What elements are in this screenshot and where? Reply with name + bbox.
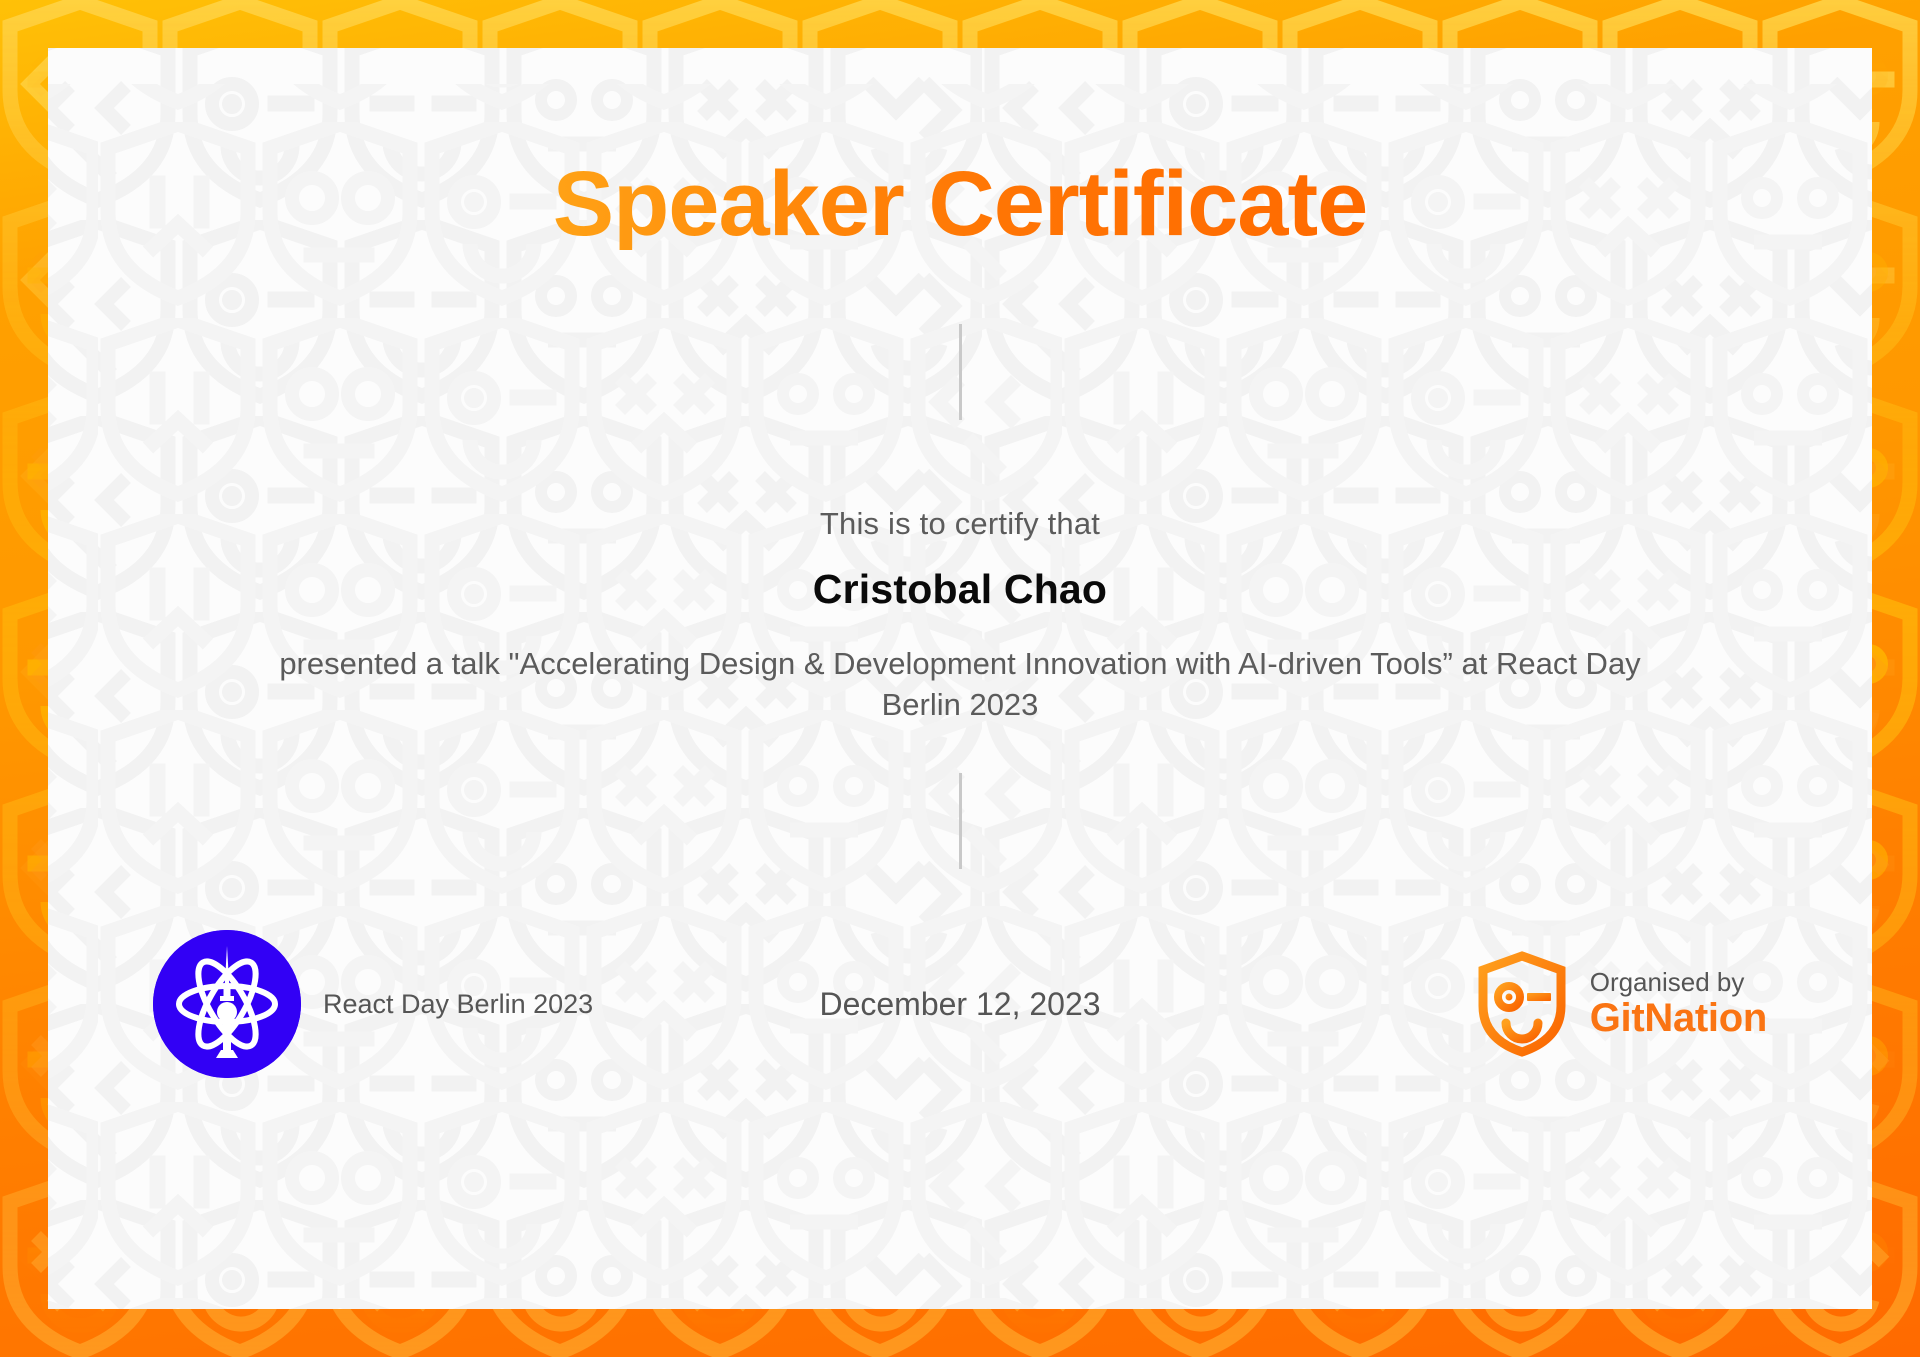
recipient-name: Cristobal Chao <box>813 566 1107 613</box>
divider-bottom <box>959 773 962 869</box>
certificate-card: Speaker Certificate This is to certify t… <box>48 48 1872 1309</box>
organiser-prefix: Organised by <box>1590 969 1767 996</box>
certificate: Speaker Certificate This is to certify t… <box>0 0 1920 1357</box>
certificate-footer: React Day Berlin 2023 December 12, 2023 <box>48 929 1872 1079</box>
talk-statement: presented a talk "Accelerating Design & … <box>245 643 1675 725</box>
gitnation-shield-icon <box>1476 951 1568 1057</box>
organiser-text: Organised by GitNation <box>1590 969 1767 1038</box>
organiser-name: GitNation <box>1590 997 1767 1039</box>
divider-top <box>959 324 962 420</box>
organiser-block: Organised by GitNation <box>1476 951 1767 1057</box>
certify-line: This is to certify that <box>820 506 1100 542</box>
page-title: Speaker Certificate <box>553 158 1368 250</box>
